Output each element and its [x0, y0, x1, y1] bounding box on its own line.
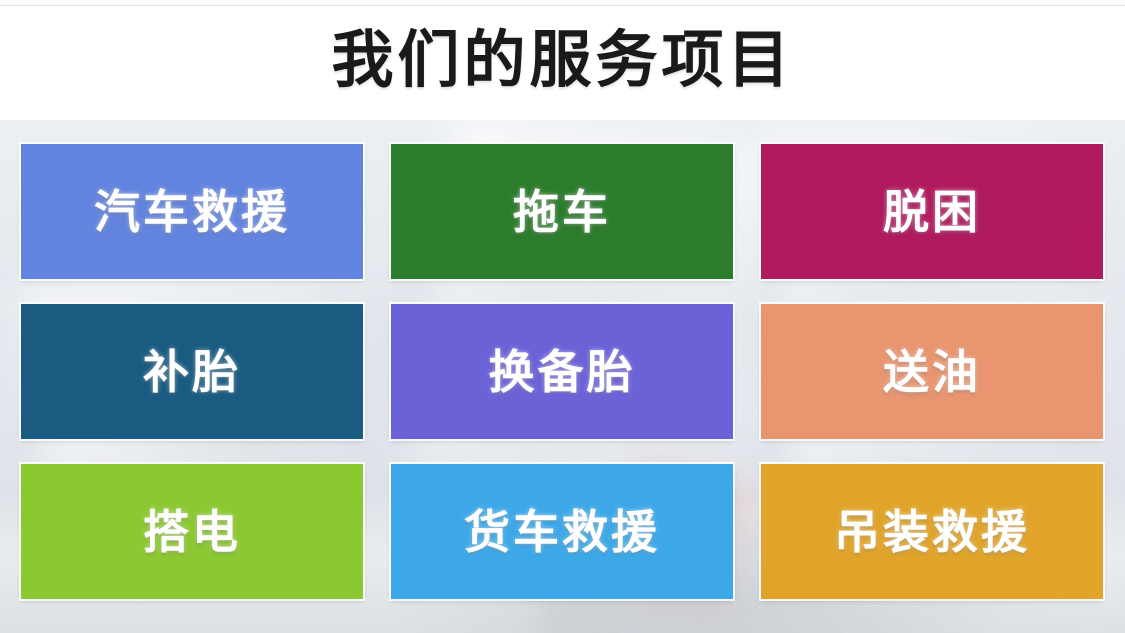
service-tile-label: 换备胎	[489, 349, 636, 395]
page-header: 我们的服务项目	[0, 0, 1125, 120]
service-tile-label: 脱困	[883, 189, 981, 235]
page-title: 我们的服务项目	[331, 29, 793, 91]
service-tile[interactable]: 脱困	[761, 144, 1103, 279]
service-tile[interactable]: 补胎	[21, 304, 363, 439]
service-tile[interactable]: 货车救援	[391, 464, 733, 599]
service-tile-label: 送油	[883, 349, 981, 395]
service-tile-label: 汽车救援	[94, 189, 290, 235]
service-tile[interactable]: 搭电	[21, 464, 363, 599]
service-tile-label: 货车救援	[464, 509, 660, 555]
service-tile[interactable]: 汽车救援	[21, 144, 363, 279]
service-tile[interactable]: 吊装救援	[761, 464, 1103, 599]
top-divider	[0, 5, 1125, 6]
service-tile[interactable]: 拖车	[391, 144, 733, 279]
service-menu-page: 我们的服务项目 汽车救援拖车脱困补胎换备胎送油搭电货车救援吊装救援	[0, 0, 1125, 633]
service-tile-grid: 汽车救援拖车脱困补胎换备胎送油搭电货车救援吊装救援	[21, 144, 1104, 600]
service-tile-label: 拖车	[513, 189, 611, 235]
service-tile-label: 吊装救援	[834, 509, 1030, 555]
service-tile[interactable]: 送油	[761, 304, 1103, 439]
service-tile-label: 搭电	[143, 509, 241, 555]
service-tile-label: 补胎	[143, 349, 241, 395]
service-tile[interactable]: 换备胎	[391, 304, 733, 439]
